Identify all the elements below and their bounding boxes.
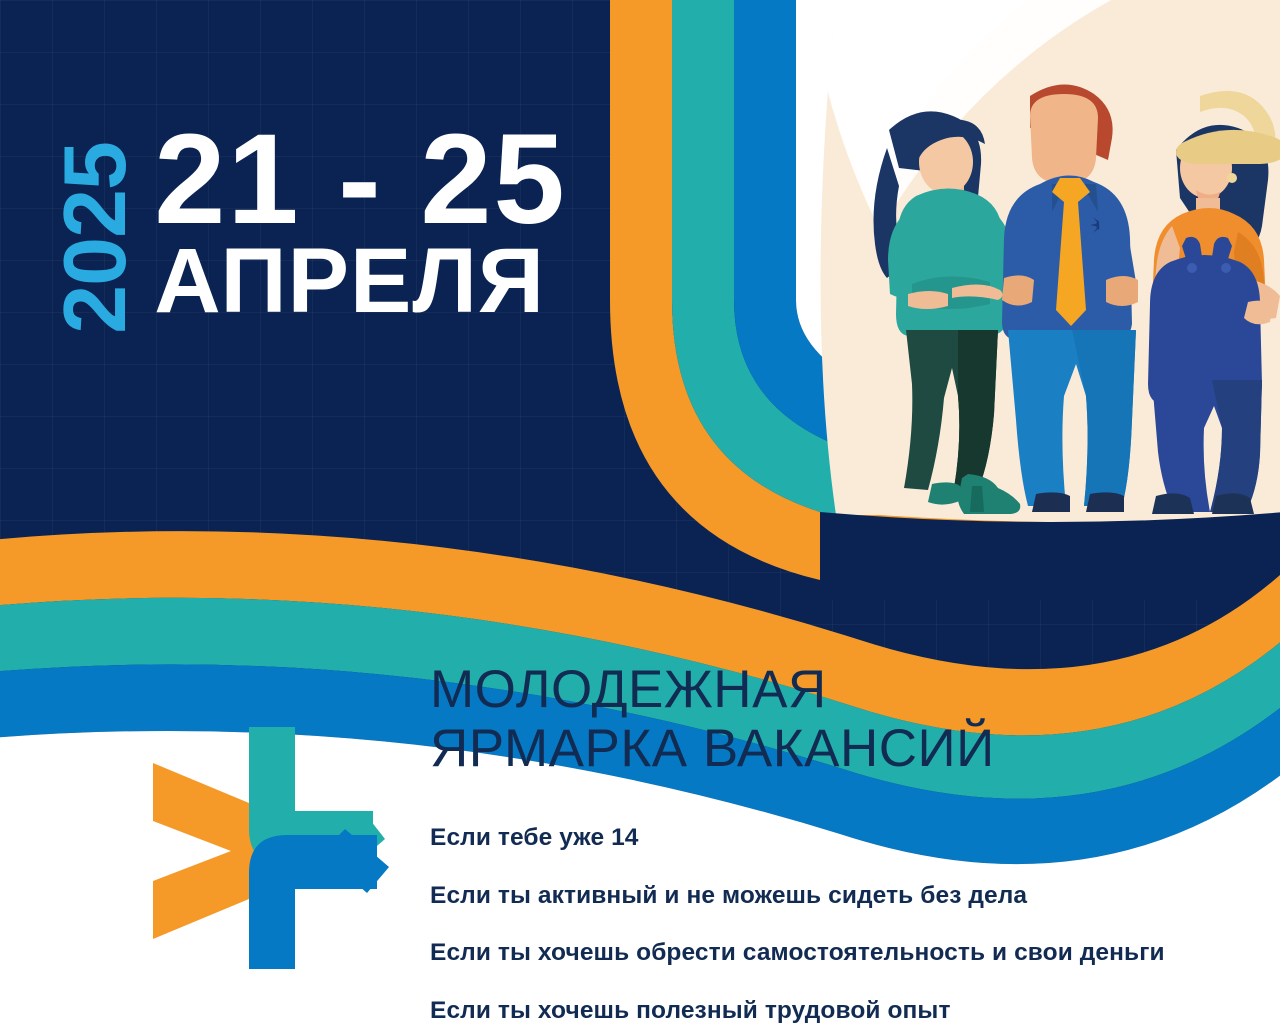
poster-canvas: 2025 21 - 25 АПРЕЛЯ МОЛОДЕЖНАЯ ЯРМАРКА В… [0,0,1280,1036]
date-lines: 21 - 25 АПРЕЛЯ [154,120,567,329]
logo-mark [145,725,390,970]
list-item: Если ты хочешь обрести самостоятельность… [430,941,1260,966]
list-item: Если ты активный и не можешь сидеть без … [430,884,1260,909]
headline-line-1: МОЛОДЕЖНАЯ [430,660,827,719]
date-block: 2025 21 - 25 АПРЕЛЯ [52,120,567,334]
date-range: 21 - 25 [154,120,567,239]
page-title: МОЛОДЕЖНАЯ ЯРМАРКА ВАКАНСИЙ [430,660,1220,779]
bullet-list: Если тебе уже 14 Если ты активный и не м… [430,826,1260,1023]
headline-line-2: ЯРМАРКА ВАКАНСИЙ [430,719,1220,778]
list-item: Если ты хочешь полезный трудовой опыт [430,999,1260,1024]
year-label: 2025 [52,142,138,334]
list-item: Если тебе уже 14 [430,826,1260,851]
date-month: АПРЕЛЯ [154,235,567,329]
